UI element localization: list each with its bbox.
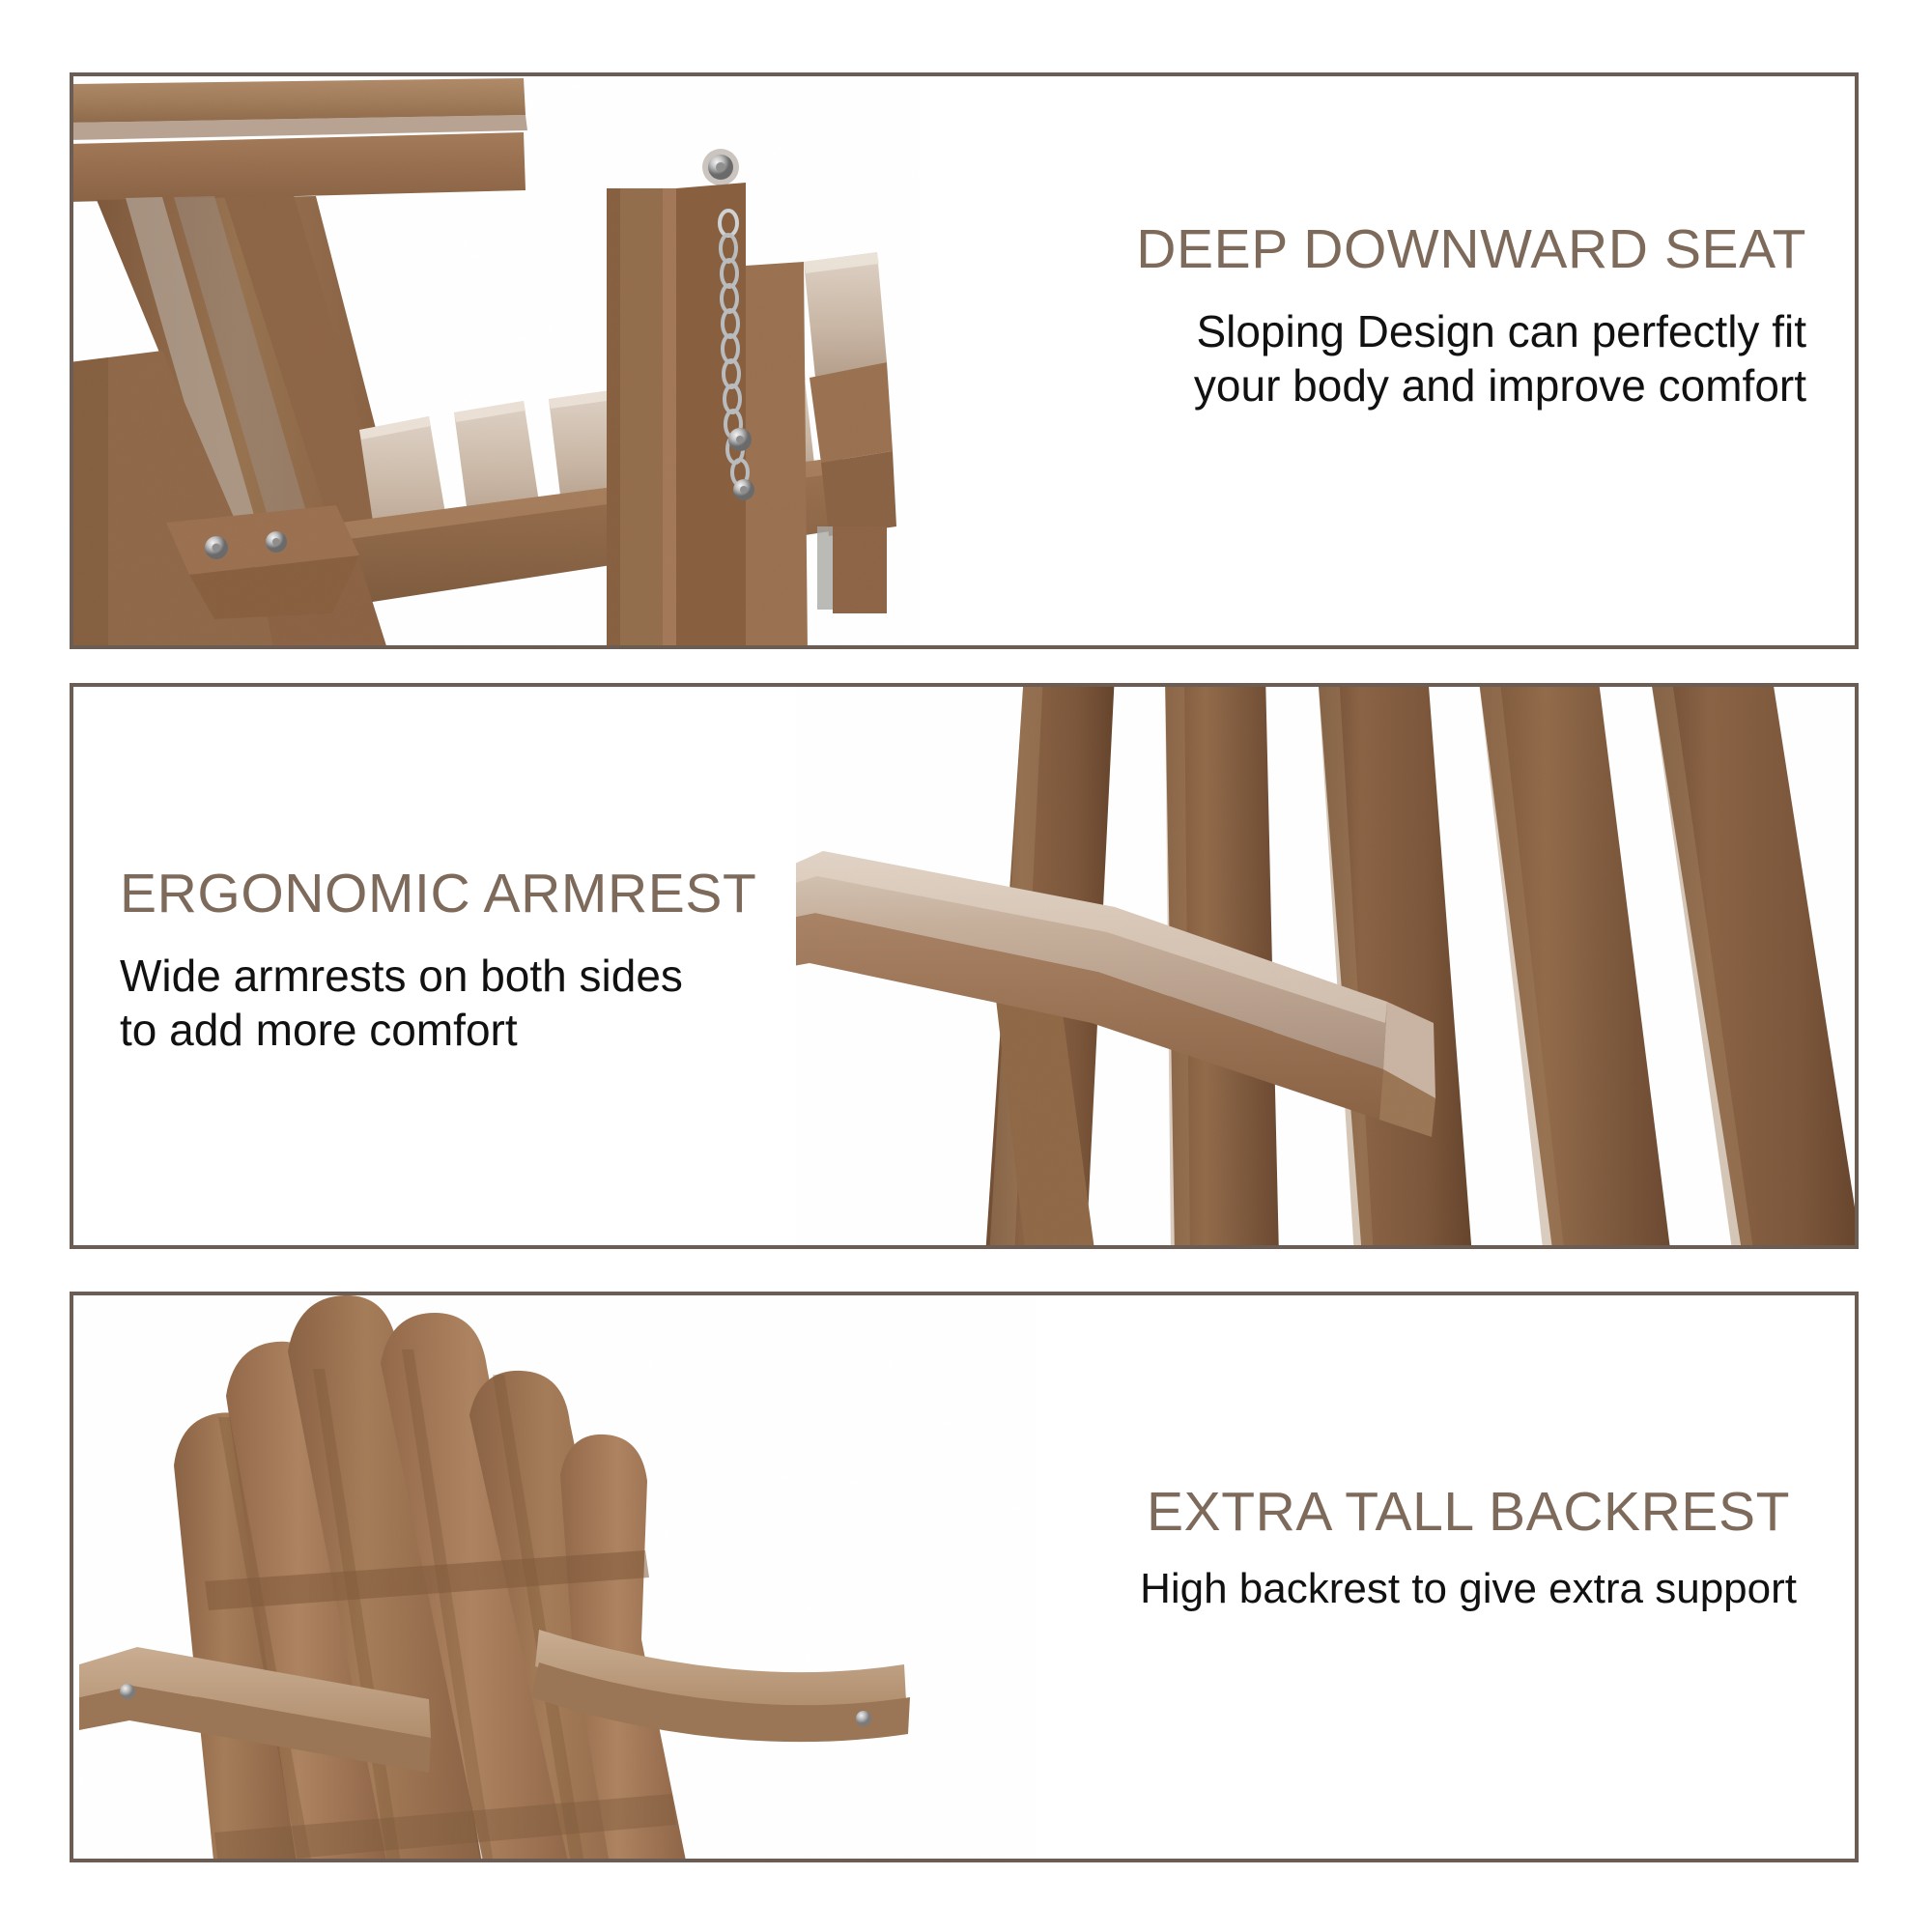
feature-heading: EXTRA TALL BACKREST: [1140, 1484, 1797, 1542]
feature-body-line-1: High backrest to give extra support: [1140, 1563, 1797, 1615]
feature-panel-deep-downward-seat: DEEP DOWNWARD SEAT Sloping Design can pe…: [70, 72, 1859, 649]
feature-heading: ERGONOMIC ARMREST: [120, 866, 756, 923]
left-armrest-visible: [79, 1647, 431, 1773]
feature-body-line-1: Sloping Design can perfectly fit: [1136, 304, 1806, 358]
screw-head: [120, 1684, 135, 1699]
feature-panel-ergonomic-armrest: ERGONOMIC ARMREST Wide armrests on both …: [70, 683, 1859, 1249]
feature-panel-extra-tall-backrest: EXTRA TALL BACKREST High backrest to giv…: [70, 1292, 1859, 1862]
screw-head: [856, 1711, 871, 1726]
photo-seat-detail: [70, 72, 920, 649]
photo-backrest-armrests: [70, 1537, 1036, 1862]
infographic-canvas: DEEP DOWNWARD SEAT Sloping Design can pe…: [0, 0, 1932, 1932]
feature-body-line-2: to add more comfort: [120, 1003, 756, 1057]
feature-heading: DEEP DOWNWARD SEAT: [1136, 221, 1806, 279]
feature-text-deep-downward-seat: DEEP DOWNWARD SEAT Sloping Design can pe…: [1136, 221, 1806, 412]
feature-text-extra-tall-backrest: EXTRA TALL BACKREST High backrest to giv…: [1140, 1484, 1797, 1615]
feature-body-line-2: your body and improve comfort: [1136, 358, 1806, 412]
photo-armrest-detail: [796, 683, 1859, 1249]
feature-text-ergonomic-armrest: ERGONOMIC ARMREST Wide armrests on both …: [120, 866, 756, 1057]
feature-body-line-1: Wide armrests on both sides: [120, 949, 756, 1003]
right-armrest-visible: [531, 1630, 910, 1742]
